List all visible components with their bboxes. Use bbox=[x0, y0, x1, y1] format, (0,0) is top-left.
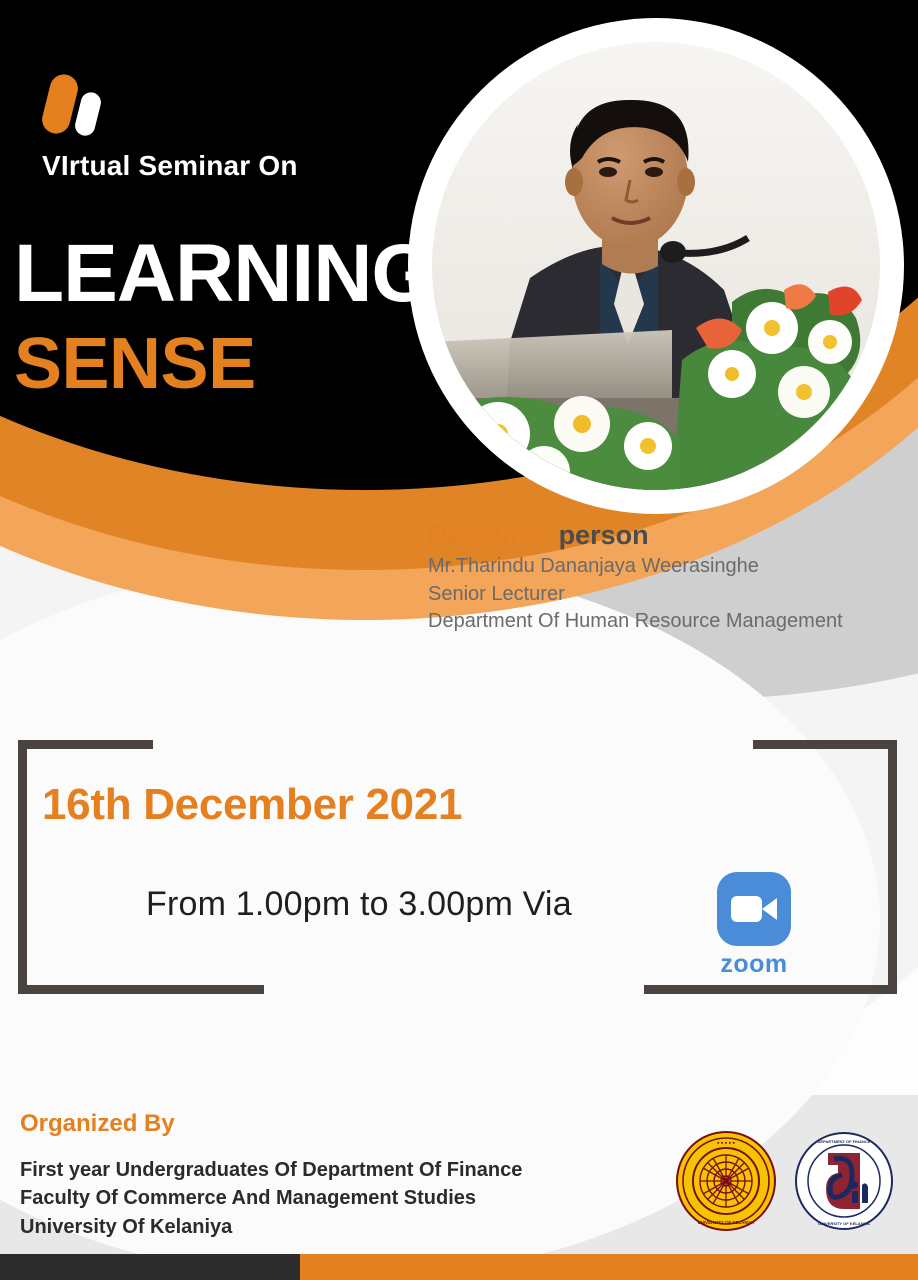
organizer-line-1: First year Undergraduates Of Department … bbox=[20, 1156, 522, 1184]
resource-person-name: Mr.Tharindu Dananjaya Weerasinghe bbox=[428, 553, 906, 581]
poster-title-sub: SENSE bbox=[14, 330, 256, 398]
details-frame-right bbox=[888, 740, 897, 994]
organized-by-heading: Organized By bbox=[20, 1110, 175, 1138]
svg-text:DEPARTMENT OF FINANCE: DEPARTMENT OF FINANCE bbox=[817, 1139, 870, 1144]
organizer-line-2: Faculty Of Commerce And Management Studi… bbox=[20, 1184, 522, 1212]
university-of-kelaniya-crest-icon: ● ● ● ● ● UNIVERSITY OF KELANIYA bbox=[676, 1131, 776, 1231]
resource-heading-highlight: Resource bbox=[428, 520, 551, 550]
resource-person-heading: Resource person bbox=[428, 520, 906, 551]
footer-logos: ● ● ● ● ● UNIVERSITY OF KELANIYA DEPARTM… bbox=[676, 1128, 901, 1234]
event-time: From 1.00pm to 3.00pm Via bbox=[146, 885, 572, 924]
resource-person-position: Senior Lecturer bbox=[428, 581, 906, 609]
zoom-wordmark: zoom bbox=[712, 950, 796, 979]
svg-text:UNIVERSITY OF KELANIYA: UNIVERSITY OF KELANIYA bbox=[818, 1221, 870, 1226]
organizer-line-3: University Of Kelaniya bbox=[20, 1213, 522, 1241]
svg-text:● ● ● ● ●: ● ● ● ● ● bbox=[717, 1140, 735, 1145]
event-date: 16th December 2021 bbox=[42, 780, 462, 830]
zoom-logo: zoom bbox=[712, 872, 796, 979]
zoom-camera-glyph bbox=[731, 896, 777, 922]
zoom-camera-lens bbox=[762, 898, 777, 920]
zoom-camera-icon bbox=[717, 872, 791, 946]
footer-bar-dark bbox=[0, 1254, 300, 1280]
speaker-photo bbox=[432, 42, 880, 490]
seminar-poster: VIrtual Seminar On LEARNING SENSE Resour… bbox=[0, 0, 918, 1280]
resource-person-block: Resource person Mr.Tharindu Dananjaya We… bbox=[428, 520, 906, 636]
resource-person-department: Department Of Human Resource Management bbox=[428, 608, 906, 636]
poster-title-main: LEARNING bbox=[14, 235, 434, 313]
organized-by-details: First year Undergraduates Of Department … bbox=[20, 1156, 522, 1241]
brand-logo bbox=[40, 70, 120, 142]
details-frame-bottom-left bbox=[18, 985, 264, 994]
zoom-camera-body bbox=[731, 896, 762, 922]
footer-bar-orange bbox=[300, 1254, 918, 1280]
speaker-photo-illustration bbox=[432, 42, 880, 490]
details-frame-top-right bbox=[753, 740, 897, 749]
details-frame-bottom-right bbox=[644, 985, 897, 994]
svg-text:UNIVERSITY OF KELANIYA: UNIVERSITY OF KELANIYA bbox=[698, 1220, 756, 1225]
pill-white-icon bbox=[73, 90, 103, 138]
details-frame-left bbox=[18, 740, 27, 994]
department-of-finance-crest-icon: DEPARTMENT OF FINANCE UNIVERSITY OF KELA… bbox=[794, 1131, 894, 1231]
resource-heading-plain: person bbox=[551, 520, 649, 550]
poster-tagline: VIrtual Seminar On bbox=[42, 150, 298, 182]
details-frame-top-left bbox=[18, 740, 153, 749]
